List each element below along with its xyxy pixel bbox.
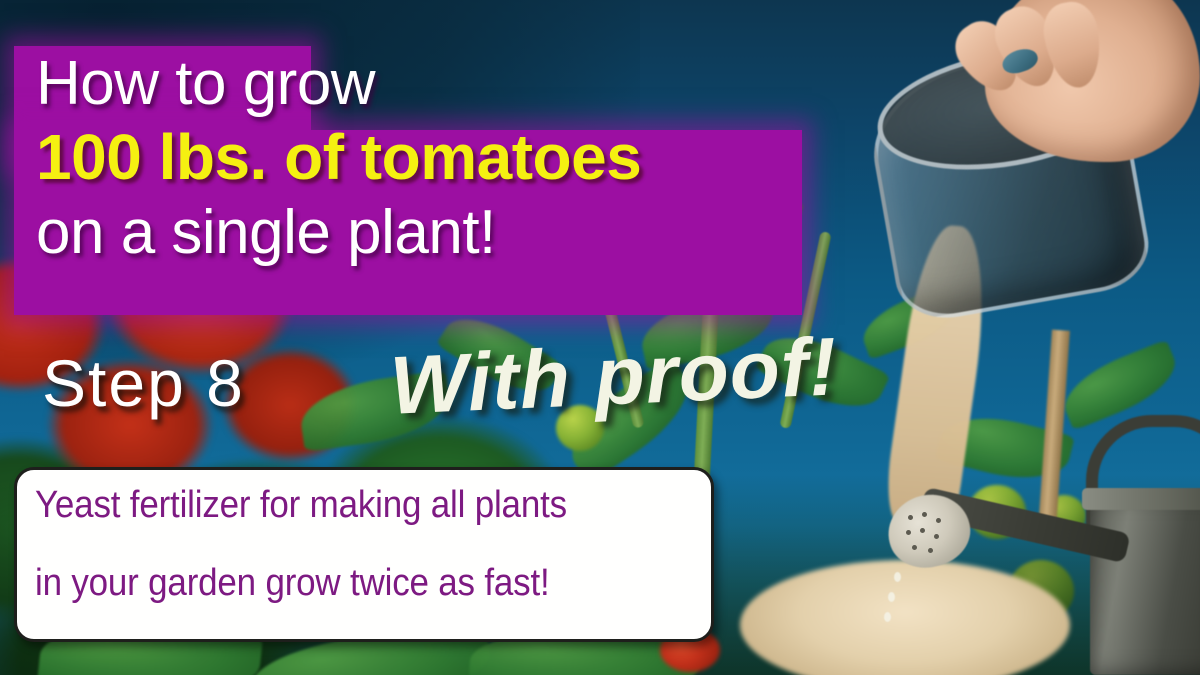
- rose-hole: [908, 515, 913, 520]
- rose-hole: [936, 518, 941, 523]
- rose-hole: [922, 512, 927, 517]
- title-block: How to grow 100 lbs. of tomatoes on a si…: [36, 46, 826, 264]
- title-line-1: How to grow: [36, 52, 826, 115]
- caption-box: Yeast fertilizer for making all plants i…: [14, 467, 714, 642]
- rose-hole: [920, 528, 925, 533]
- rose-hole: [934, 534, 939, 539]
- watering-can-lip: [1082, 488, 1200, 510]
- watering-can-body: [1090, 495, 1200, 675]
- caption-line-2: in your garden grow twice as fast!: [35, 564, 640, 602]
- step-label: Step 8: [42, 345, 245, 421]
- rose-hole: [906, 530, 911, 535]
- water-drip: [884, 612, 891, 622]
- rose-hole: [928, 548, 933, 553]
- caption-line-1: Yeast fertilizer for making all plants: [35, 486, 640, 524]
- with-proof-label: With proof!: [388, 320, 839, 433]
- water-drip: [888, 592, 895, 602]
- title-line-3: on a single plant!: [36, 201, 826, 264]
- youtube-thumbnail: How to grow 100 lbs. of tomatoes on a si…: [0, 0, 1200, 675]
- title-line-2-highlight: 100 lbs. of tomatoes: [36, 125, 826, 190]
- rose-hole: [912, 545, 917, 550]
- water-drip: [894, 572, 901, 582]
